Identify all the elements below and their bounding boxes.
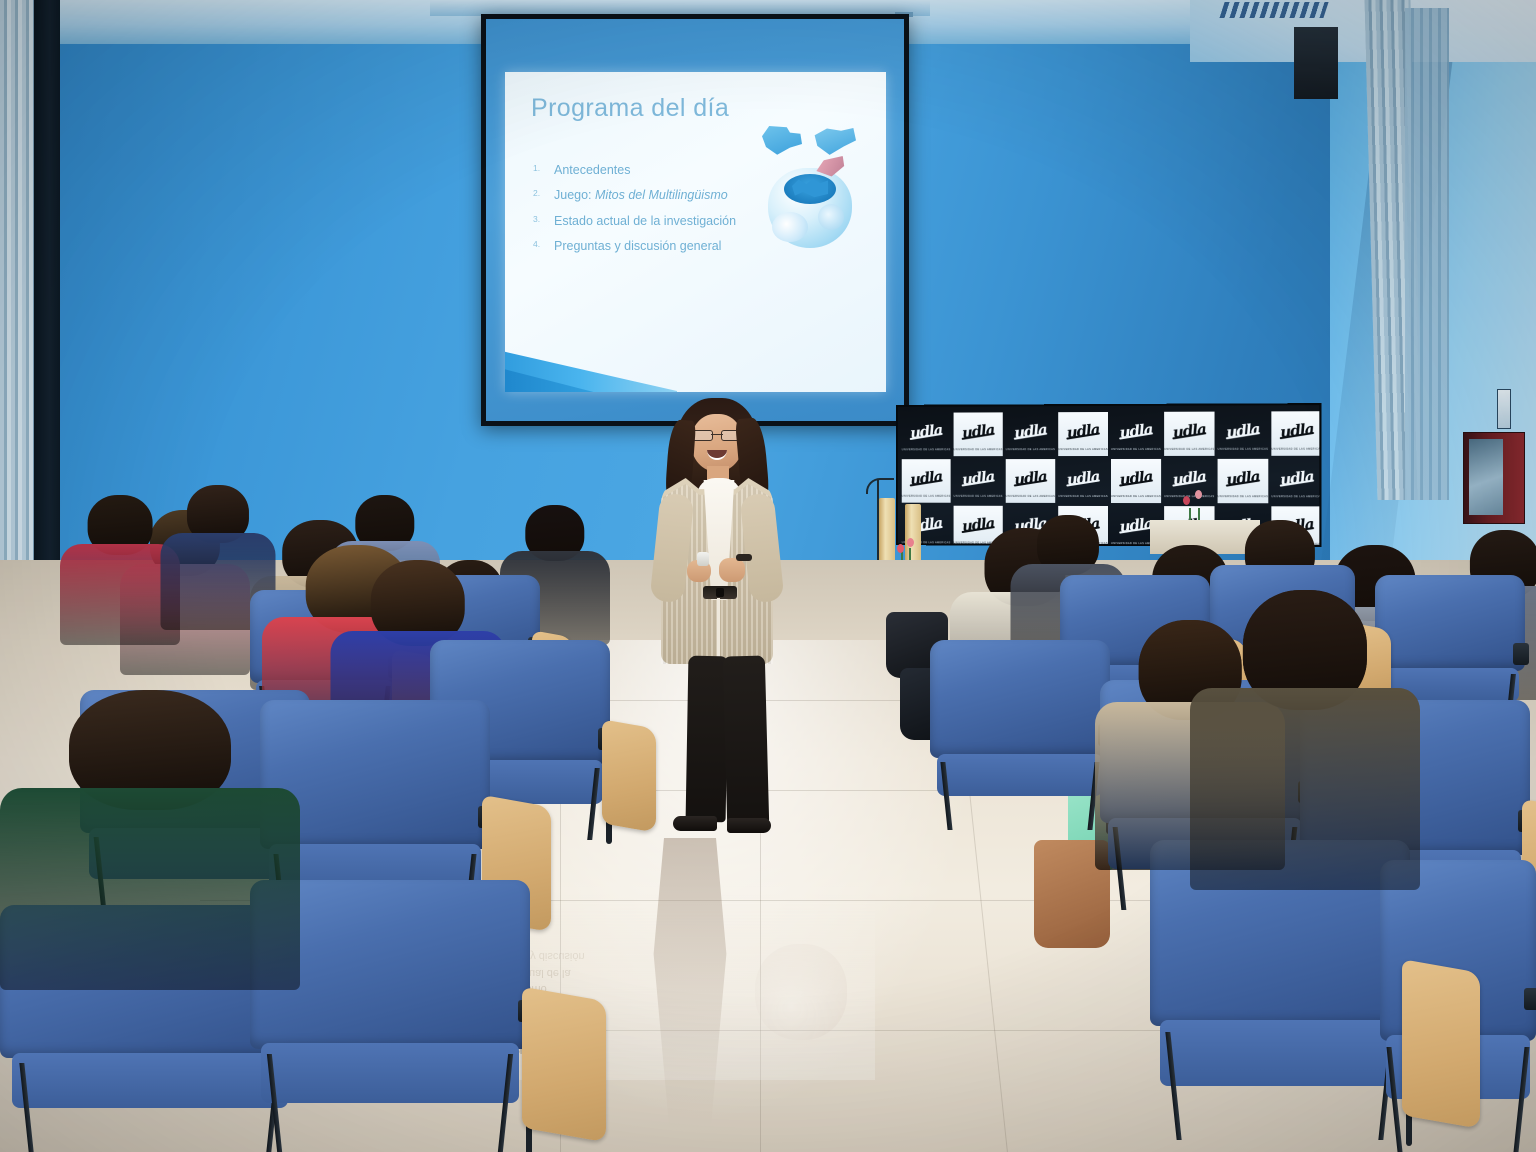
list-item: 2. Juego: Mitos del Multilingüismo: [531, 187, 756, 204]
udla-logo-icon: udla: [961, 468, 995, 489]
udla-logo-icon: udla: [1066, 421, 1100, 442]
list-marker: 2.: [533, 188, 540, 200]
banner-logo-tile: udlaUNIVERSIDAD DE LAS AMERICAS: [1111, 412, 1161, 456]
auditorium-chair: [930, 640, 1110, 830]
banner-logo-subtext: UNIVERSIDAD DE LAS AMERICAS: [1218, 448, 1269, 451]
list-item: 3. Estado actual de la investigación: [531, 213, 756, 230]
banner-logo-subtext: UNIVERSIDAD DE LAS AMERICAS: [1006, 495, 1055, 498]
audience-member: [0, 690, 300, 990]
eyeglasses-icon: [692, 430, 742, 439]
audience-member: [1190, 590, 1420, 890]
chair-seat: [12, 1053, 288, 1107]
list-text: Preguntas y discusión general: [554, 239, 721, 253]
window-curtain-left: [0, 0, 36, 560]
presenter-hand-right: [719, 558, 745, 582]
puzzle-globe-icon: [754, 124, 864, 252]
chair-writing-tablet: [602, 719, 656, 833]
banner-logo-tile: udlaUNIVERSIDAD DE LAS AMERICAS: [1006, 412, 1055, 456]
banner-logo-subtext: UNIVERSIDAD DE LAS AMERICAS: [954, 448, 1003, 451]
chair-back: [930, 640, 1110, 758]
presenter-leg-left: [686, 656, 729, 823]
banner-logo-subtext: UNIVERSIDAD DE LAS AMERICAS: [1271, 448, 1321, 451]
udla-logo-icon: udla: [1172, 420, 1207, 442]
list-marker: 4.: [533, 239, 540, 251]
banner-logo-subtext: UNIVERSIDAD DE LAS AMERICAS: [1111, 495, 1161, 498]
slide-agenda-list: 1. Antecedentes 2. Juego: Mitos del Mult…: [531, 162, 756, 263]
chair-seat: [937, 754, 1103, 796]
presentation-slide: Programa del día 1. Antecedentes 2. Jueg…: [505, 72, 886, 392]
banner-logo-tile: udlaUNIVERSIDAD DE LAS AMERICAS: [1058, 459, 1108, 503]
banner-logo-subtext: UNIVERSIDAD DE LAS AMERICAS: [1058, 495, 1108, 498]
banner-logo-tile: udlaUNIVERSIDAD DE LAS AMERICAS: [1271, 459, 1321, 504]
list-item: 1. Antecedentes: [531, 162, 756, 179]
banner-logo-subtext: UNIVERSIDAD DE LAS AMERICAS: [954, 495, 1003, 498]
banner-logo-subtext: UNIVERSIDAD DE LAS AMERICAS: [1218, 495, 1269, 498]
projection-screen: Programa del día 1. Antecedentes 2. Jueg…: [481, 14, 909, 426]
wristwatch: [736, 554, 752, 561]
auditorium-photo: Programa del día 1. Antecedentes 2. Jueg…: [0, 0, 1536, 1152]
udla-logo-icon: udla: [1013, 421, 1047, 442]
udla-logo-icon: udla: [1119, 421, 1154, 442]
chair-seat: [1160, 1020, 1399, 1086]
presenter-leg-right: [723, 655, 769, 824]
udla-logo-icon: udla: [909, 421, 943, 442]
banner-logo-tile: udlaUNIVERSIDAD DE LAS AMERICAS: [902, 459, 951, 503]
presenter-shoe-right: [727, 818, 771, 833]
banner-logo-tile: udlaUNIVERSIDAD DE LAS AMERICAS: [1111, 459, 1161, 503]
udla-logo-icon: udla: [961, 421, 995, 442]
banner-logo-subtext: UNIVERSIDAD DE LAS AMERICAS: [1058, 448, 1108, 451]
banner-logo-tile: udlaUNIVERSIDAD DE LAS AMERICAS: [1218, 411, 1269, 455]
folding-partition-wall: [1405, 8, 1449, 500]
udla-logo-icon: udla: [1172, 468, 1207, 489]
presenter-cardigan-tie: [717, 598, 720, 664]
banner-logo-subtext: UNIVERSIDAD DE LAS AMERICAS: [1111, 448, 1161, 451]
udla-logo-icon: udla: [1225, 468, 1260, 489]
list-marker: 3.: [533, 214, 540, 226]
list-marker: 1.: [533, 163, 540, 175]
udla-logo-icon: udla: [1279, 420, 1314, 442]
list-text-italic: Mitos del Multilingüismo: [595, 188, 728, 202]
fire-hose-cabinet: [1463, 432, 1525, 524]
wall-dark-column: [34, 0, 60, 560]
presentation-clicker: [697, 552, 709, 566]
reflection-globe: [755, 944, 847, 1040]
chair-tablet-bracket: [1524, 988, 1536, 1010]
udla-logo-icon: udla: [1119, 468, 1154, 489]
slide-title: Programa del día: [531, 94, 729, 123]
microphone-arm: [866, 478, 894, 494]
ceiling-light-fixture: [1219, 2, 1328, 18]
udla-logo-icon: udla: [1279, 468, 1314, 490]
list-text: Estado actual de la investigación: [554, 214, 736, 228]
banner-logo-subtext: UNIVERSIDAD DE LAS AMERICAS: [902, 448, 951, 451]
presenter-belt-buckle: [703, 586, 737, 599]
presenter-face: [691, 414, 743, 472]
presenter: [635, 398, 795, 843]
banner-logo-tile: udlaUNIVERSIDAD DE LAS AMERICAS: [1164, 412, 1214, 456]
banner-logo-tile: udlaUNIVERSIDAD DE LAS AMERICAS: [1058, 412, 1108, 456]
chair-writing-tablet: [1402, 959, 1480, 1129]
chair-seat: [261, 1043, 519, 1103]
banner-logo-subtext: UNIVERSIDAD DE LAS AMERICAS: [902, 495, 951, 498]
banner-logo-tile: udlaUNIVERSIDAD DE LAS AMERICAS: [954, 412, 1003, 456]
udla-logo-icon: udla: [909, 468, 943, 489]
udla-logo-icon: udla: [1066, 468, 1100, 489]
banner-logo-tile: udlaUNIVERSIDAD DE LAS AMERICAS: [954, 459, 1003, 503]
list-text: Juego:: [554, 188, 595, 202]
banner-logo-tile: udlaUNIVERSIDAD DE LAS AMERICAS: [902, 413, 951, 457]
chair-writing-tablet: [522, 987, 606, 1143]
udla-logo-icon: udla: [1013, 468, 1047, 489]
udla-logo-icon: udla: [1225, 420, 1260, 442]
list-text: Antecedentes: [554, 163, 630, 177]
presenter-shoe-left: [673, 816, 717, 831]
banner-logo-tile: udlaUNIVERSIDAD DE LAS AMERICAS: [1218, 459, 1269, 503]
banner-logo-tile: udlaUNIVERSIDAD DE LAS AMERICAS: [1006, 459, 1055, 503]
wall-speaker: [1294, 27, 1338, 99]
banner-logo-subtext: UNIVERSIDAD DE LAS AMERICAS: [1271, 495, 1321, 498]
chair-tablet-bracket: [1513, 643, 1529, 665]
banner-logo-tile: udlaUNIVERSIDAD DE LAS AMERICAS: [1271, 411, 1321, 456]
audience-torso: [1190, 688, 1420, 890]
emergency-sign: [1497, 389, 1511, 429]
banner-logo-subtext: UNIVERSIDAD DE LAS AMERICAS: [1006, 448, 1055, 451]
audience-torso: [0, 788, 300, 990]
list-item: 4. Preguntas y discusión general: [531, 238, 756, 255]
banner-logo-subtext: UNIVERSIDAD DE LAS AMERICAS: [1164, 448, 1214, 451]
